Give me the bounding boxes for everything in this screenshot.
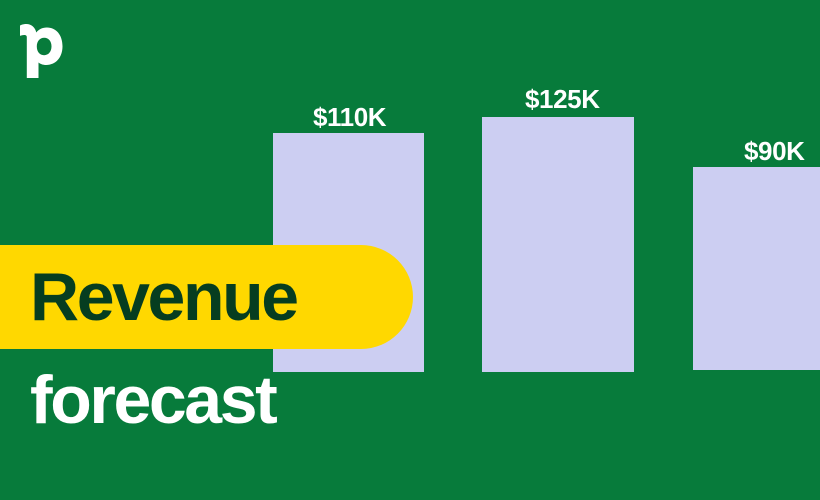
bar-value-label-1: $110K bbox=[313, 104, 386, 130]
bar-value-label-2: $125K bbox=[525, 86, 600, 112]
promo-graphic-canvas: $110K $125K $90K Revenue forecast bbox=[0, 0, 820, 500]
bar-column-2 bbox=[482, 117, 634, 372]
headline-line-2: forecast bbox=[30, 366, 275, 434]
bar-value-label-3: $90K bbox=[744, 138, 805, 164]
bar-column-3 bbox=[693, 167, 820, 370]
headline-highlight-banner: Revenue bbox=[0, 245, 413, 349]
headline-line-1: Revenue bbox=[30, 263, 297, 331]
